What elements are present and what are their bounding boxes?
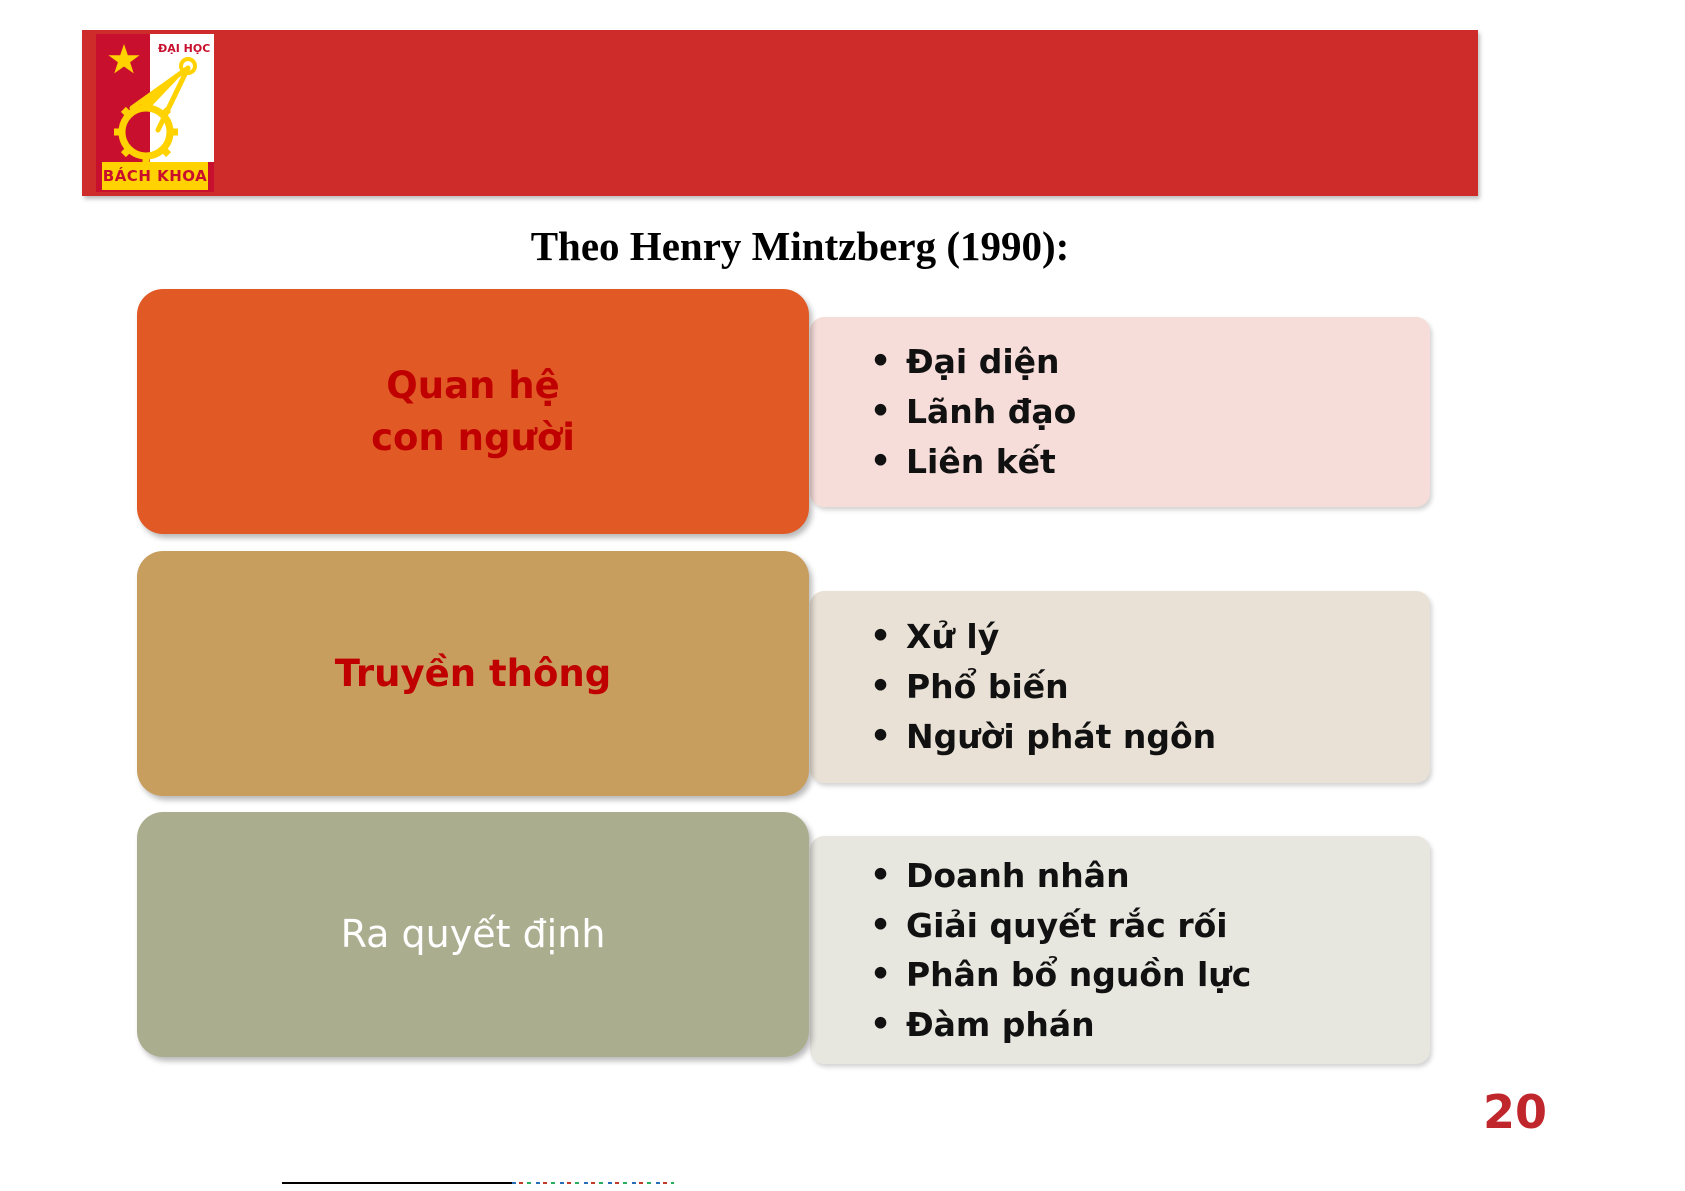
header-band — [82, 30, 1478, 196]
list-box-3: Doanh nhân Giải quyết rắc rối Phân bổ ng… — [810, 836, 1430, 1064]
list-item: Xử lý — [870, 612, 1430, 662]
bottom-artifact-line — [282, 1182, 512, 1184]
list-item: Doanh nhân — [870, 851, 1430, 901]
category-box-ra-quyet-dinh: Ra quyết định — [137, 812, 809, 1057]
bullet-list-2: Xử lý Phổ biến Người phát ngôn — [810, 612, 1430, 762]
logo-top-text: ĐẠI HỌC — [158, 42, 210, 55]
category-label-line1: Ra quyết định — [341, 908, 606, 960]
page-number: 20 — [1483, 1085, 1547, 1139]
category-box-quan-he: Quan hệ con người — [137, 289, 809, 534]
logo-banner: BÁCH KHOA — [102, 162, 208, 190]
bullet-list-1: Đại diện Lãnh đạo Liên kết — [810, 337, 1430, 487]
list-item: Liên kết — [870, 437, 1430, 487]
slide-title: Theo Henry Mintzberg (1990): — [300, 222, 1300, 270]
list-item: Phân bổ nguồn lực — [870, 950, 1430, 1000]
list-item: Người phát ngôn — [870, 712, 1430, 762]
bach-khoa-logo: ĐẠI HỌC BÁCH KHOA — [96, 34, 214, 192]
category-label: Truyền thông — [315, 648, 631, 699]
category-label-line1: Quan hệ — [371, 360, 575, 411]
list-box-2: Xử lý Phổ biến Người phát ngôn — [810, 591, 1430, 783]
category-label-line2: con người — [371, 412, 575, 463]
list-item: Phổ biến — [870, 662, 1430, 712]
bottom-artifact-dots — [512, 1182, 674, 1184]
list-box-1: Đại diện Lãnh đạo Liên kết — [810, 317, 1430, 507]
category-label: Ra quyết định — [321, 908, 626, 960]
category-label-line1: Truyền thông — [335, 648, 611, 699]
list-item: Giải quyết rắc rối — [870, 901, 1430, 951]
category-box-truyen-thong: Truyền thông — [137, 551, 809, 796]
list-item: Đại diện — [870, 337, 1430, 387]
category-label: Quan hệ con người — [351, 360, 595, 462]
list-item: Đàm phán — [870, 1000, 1430, 1050]
bullet-list-3: Doanh nhân Giải quyết rắc rối Phân bổ ng… — [810, 851, 1430, 1049]
list-item: Lãnh đạo — [870, 387, 1430, 437]
logo-banner-text: BÁCH KHOA — [103, 167, 207, 185]
